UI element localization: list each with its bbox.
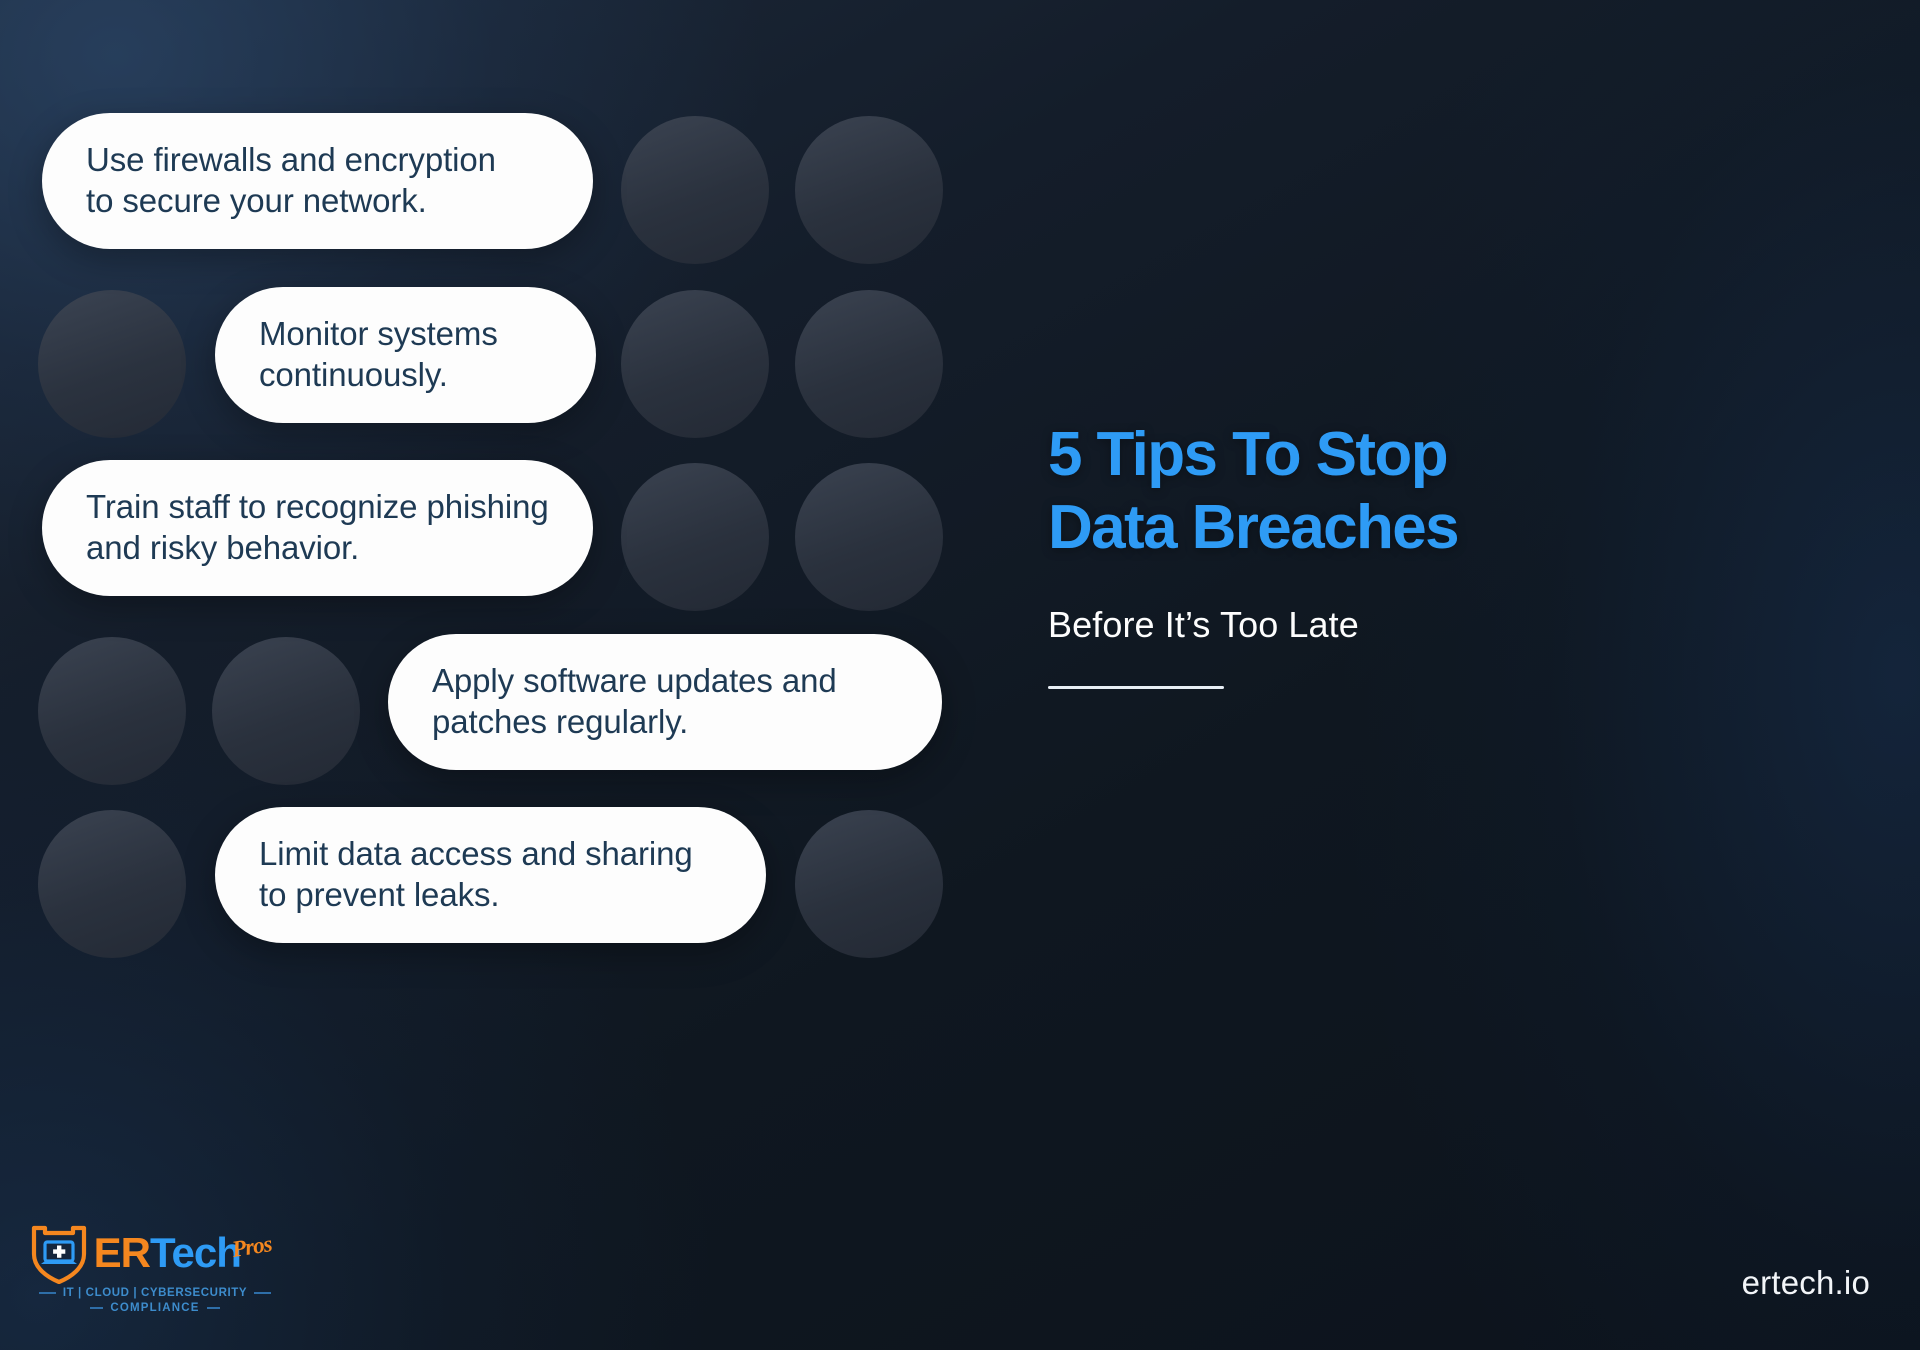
logo-tagline-primary-row: IT | CLOUD | CYBERSECURITY — [39, 1287, 271, 1299]
logo-wordmark: ERTechPros — [94, 1229, 281, 1277]
logo-tagline-secondary-row: COMPLIANCE — [90, 1302, 219, 1314]
logo-main-row: ERTechPros — [30, 1222, 281, 1284]
tagline-dash-right — [254, 1292, 271, 1294]
logo-word-er: ER — [94, 1229, 150, 1277]
tip-pill-5[interactable]: Limit data access and sharing to prevent… — [215, 807, 766, 943]
tip-text: Apply software updates and patches regul… — [432, 661, 837, 742]
title-divider — [1048, 686, 1224, 689]
page-subtitle: Before It’s Too Late — [1048, 604, 1748, 646]
tip-text: Monitor systems continuously. — [259, 314, 498, 395]
tagline-dash-left — [39, 1292, 56, 1294]
tip-text: Limit data access and sharing to prevent… — [259, 834, 693, 915]
tagline-dash-right — [207, 1307, 220, 1309]
tip-pill-1[interactable]: Use firewalls and encryption to secure y… — [42, 113, 593, 249]
logo-word-pros: Pros — [230, 1231, 273, 1263]
tip-text: Train staff to recognize phishing and ri… — [86, 487, 549, 568]
logo-word-tech: Tech — [150, 1229, 241, 1277]
logo-tagline-secondary: COMPLIANCE — [110, 1302, 199, 1314]
shield-laptop-cross-icon — [30, 1222, 88, 1284]
tip-pill-4[interactable]: Apply software updates and patches regul… — [388, 634, 942, 770]
website-url[interactable]: ertech.io — [1742, 1264, 1870, 1302]
tip-pill-2[interactable]: Monitor systems continuously. — [215, 287, 596, 423]
logo-tagline-primary: IT | CLOUD | CYBERSECURITY — [63, 1287, 247, 1299]
tagline-dash-left — [90, 1307, 103, 1309]
brand-logo[interactable]: ERTechPros IT | CLOUD | CYBERSECURITY CO… — [40, 1222, 270, 1314]
tip-text: Use firewalls and encryption to secure y… — [86, 140, 496, 221]
tip-pill-3[interactable]: Train staff to recognize phishing and ri… — [42, 460, 593, 596]
headline-column: 5 Tips To Stop Data Breaches Before It’s… — [1048, 418, 1748, 689]
page-title: 5 Tips To Stop Data Breaches — [1048, 418, 1748, 564]
infographic-poster: Use firewalls and encryption to secure y… — [0, 0, 1920, 1350]
